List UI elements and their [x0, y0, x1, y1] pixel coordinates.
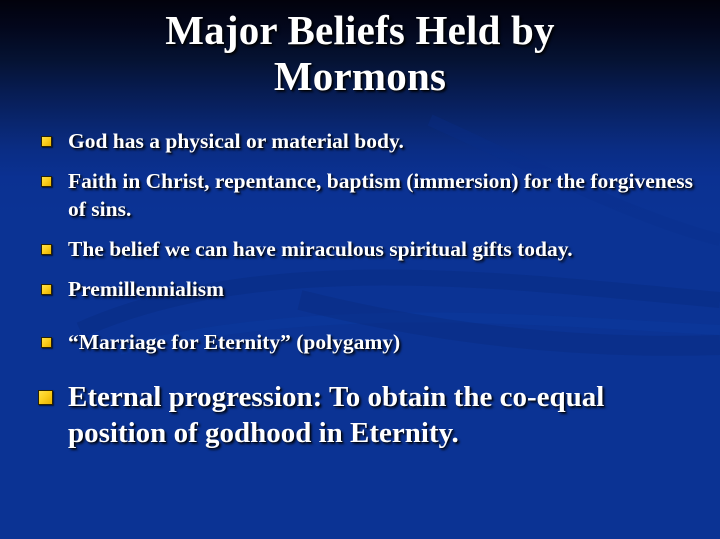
bullet-item-4-text: Premillennialism [68, 276, 706, 304]
bullet-item-1-text: God has a physical or material body. [68, 128, 706, 156]
slide-title: Major Beliefs Held by Mormons [0, 8, 720, 100]
bullet-item-3-text: The belief we can have miraculous spirit… [68, 236, 706, 264]
presentation-slide: Major Beliefs Held by Mormons God has a … [0, 0, 720, 539]
slide-title-line-2: Mormons [0, 54, 720, 100]
bullet-item-2: Faith in Christ, repentance, baptism (im… [0, 168, 720, 224]
bullet-item-2-text: Faith in Christ, repentance, baptism (im… [68, 168, 706, 224]
bullet-item-6-text: Eternal progression: To obtain the co-eq… [68, 379, 706, 452]
bullet-square-icon [38, 390, 53, 405]
bullet-item-5: “Marriage for Eternity” (polygamy) [0, 329, 720, 357]
bullet-item-6: Eternal progression: To obtain the co-eq… [0, 379, 720, 452]
bullet-square-icon [41, 244, 52, 255]
bullet-list: God has a physical or material body. Fai… [0, 128, 720, 452]
bullet-item-5-text: “Marriage for Eternity” (polygamy) [68, 329, 706, 357]
slide-title-line-1: Major Beliefs Held by [0, 8, 720, 54]
bullet-item-4: Premillennialism [0, 276, 720, 304]
bullet-square-icon [41, 136, 52, 147]
bullet-item-1: God has a physical or material body. [0, 128, 720, 156]
bullet-square-icon [41, 284, 52, 295]
bullet-square-icon [41, 337, 52, 348]
bullet-square-icon [41, 176, 52, 187]
bullet-item-3: The belief we can have miraculous spirit… [0, 236, 720, 264]
